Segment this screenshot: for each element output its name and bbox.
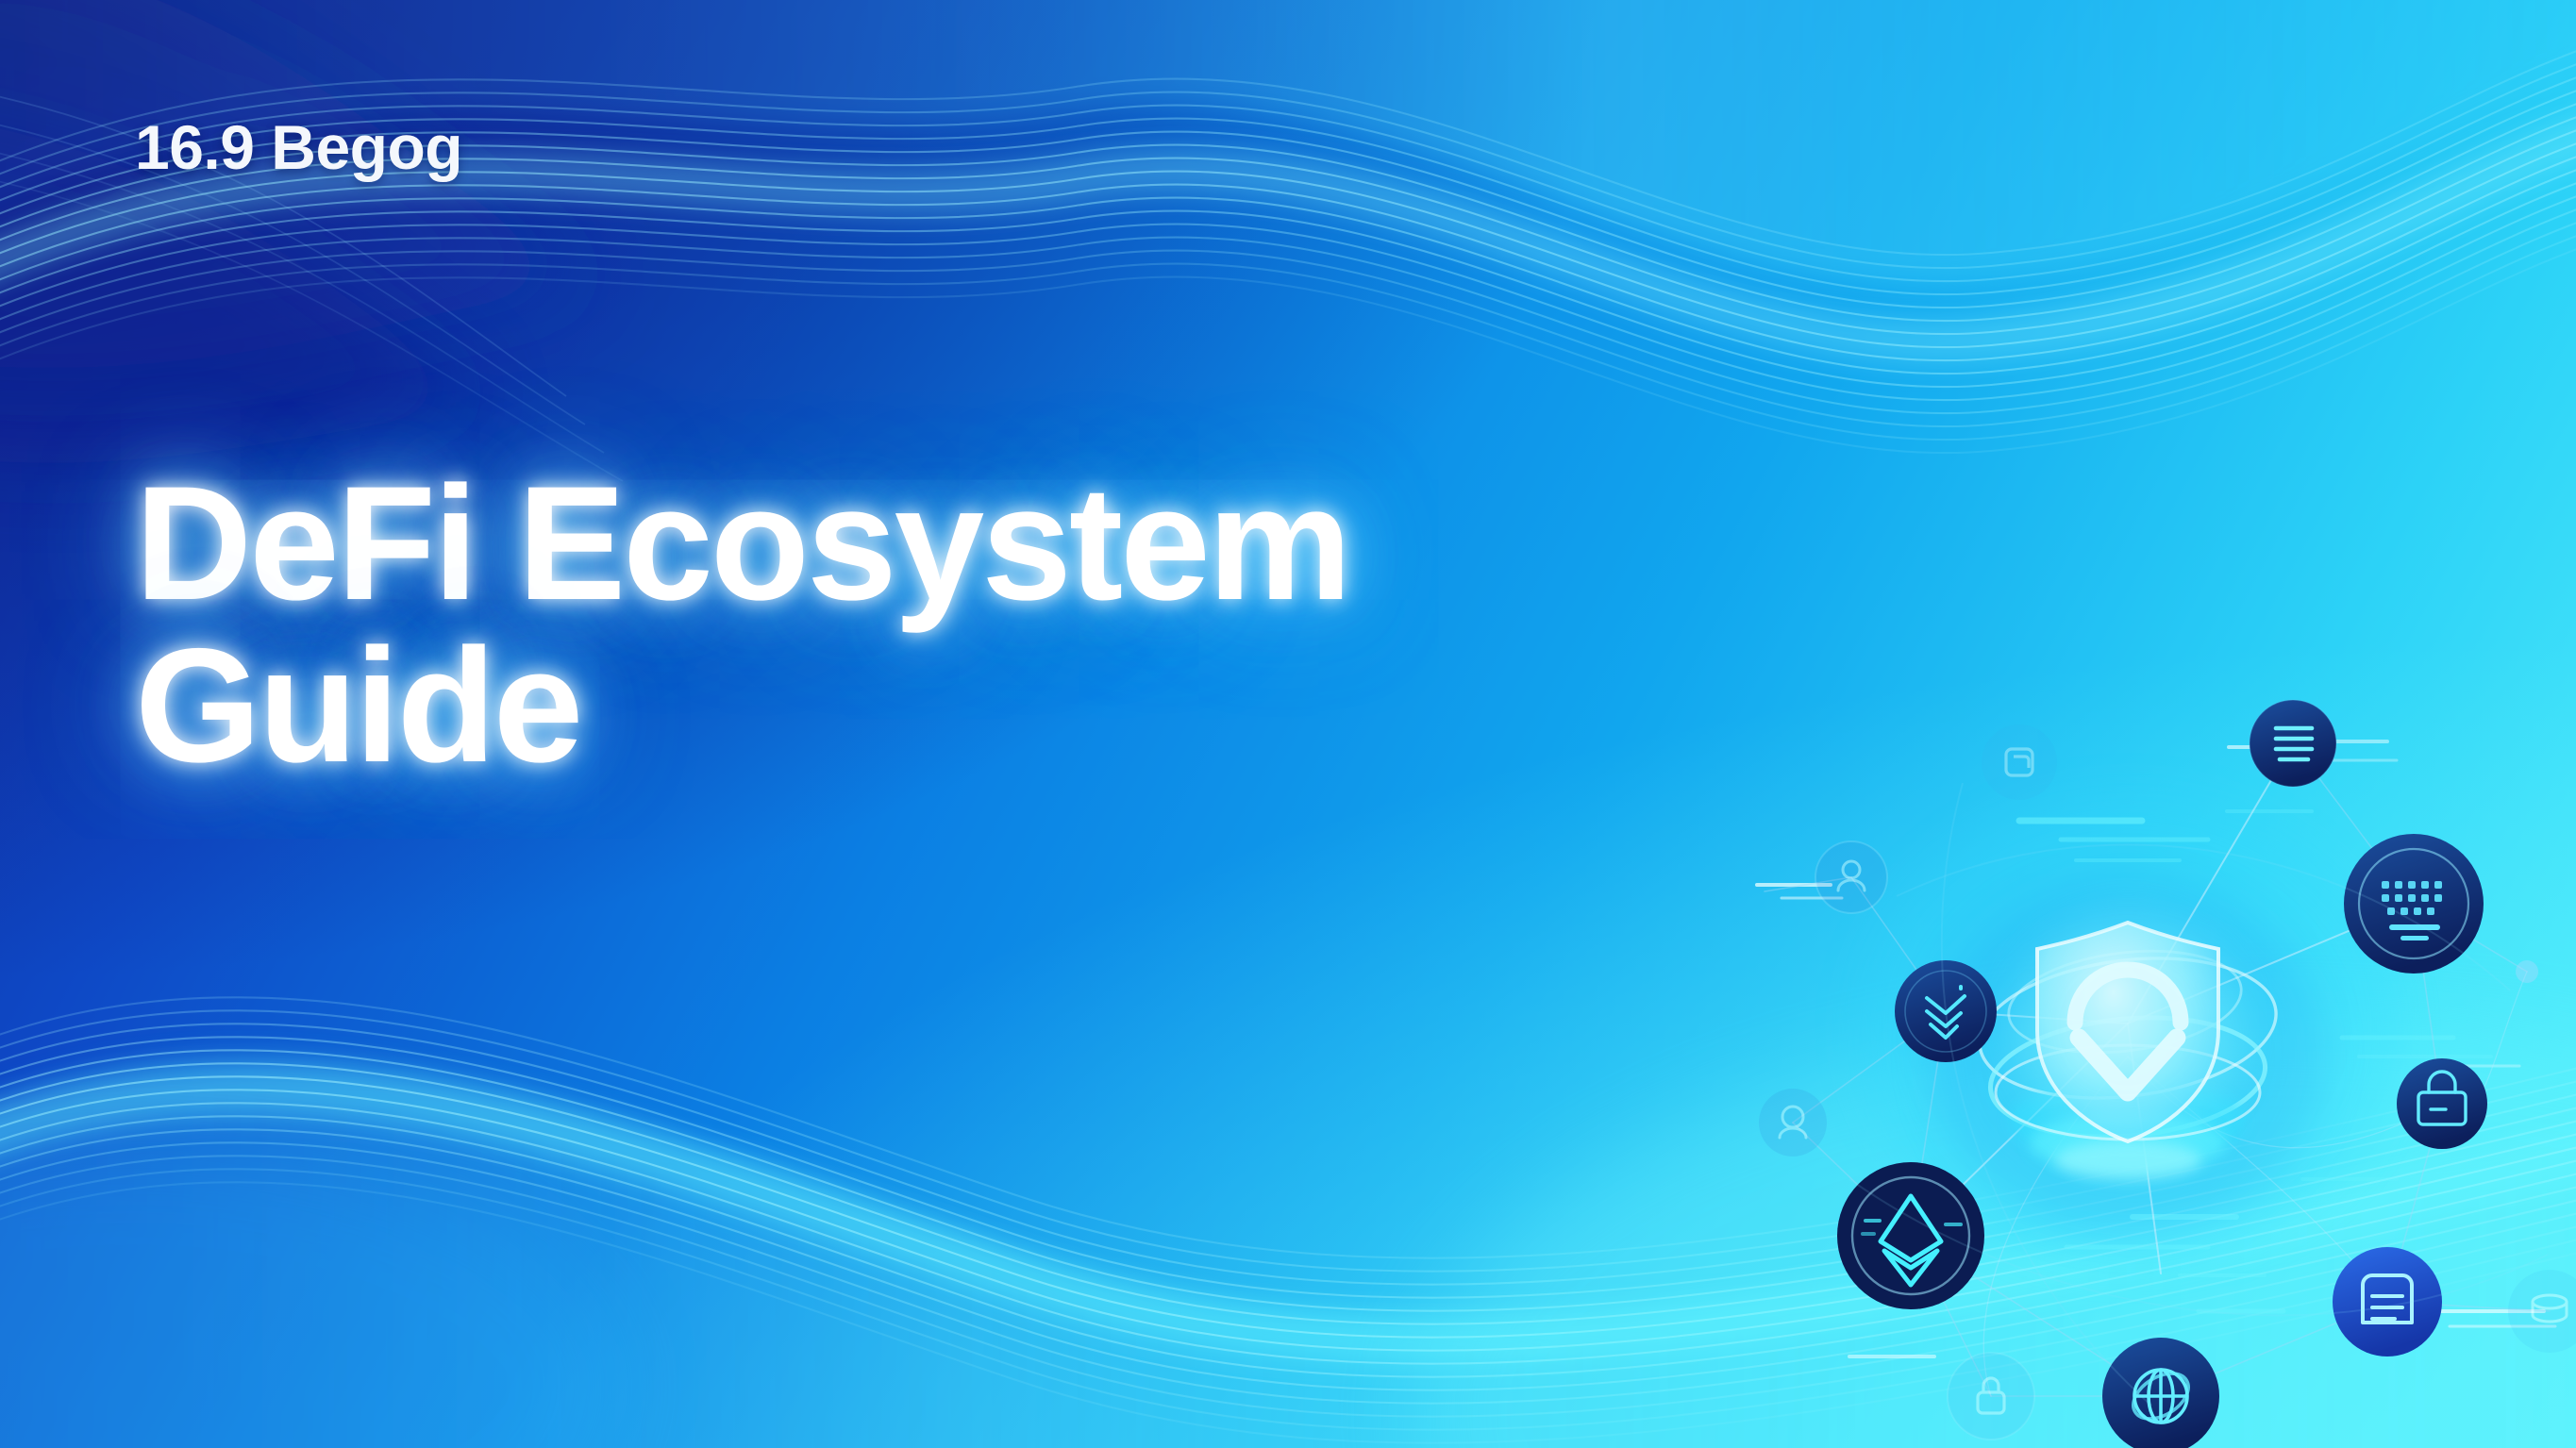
network-node-wallet[interactable] [2397,1058,2487,1149]
dark-blob-top-left [0,0,604,463]
network-node-document[interactable] [2250,700,2336,787]
network-node-coin-left[interactable] [1759,1089,1827,1157]
top-wave-lines [0,32,2576,453]
defi-ecosystem-banner: 16.9 Begog DeFi Ecosystem Guide [0,0,2576,1448]
network-node-swap[interactable] [2516,960,2538,983]
network-node-chat[interactable] [2333,1247,2442,1356]
defi-network-illustration [1736,651,2576,1448]
banner-eyebrow-text: 16.9 Begog [135,111,462,183]
page-title: DeFi Ecosystem Guide [135,462,1349,787]
network-node-coin-low[interactable] [2508,1270,2576,1353]
network-node-person[interactable] [1815,841,1887,913]
network-node-lock[interactable] [1948,1353,2034,1440]
network-node-ethereum[interactable] [1837,1162,1984,1309]
network-node-globe[interactable] [2102,1338,2219,1448]
network-node-chip[interactable] [1982,724,2057,800]
